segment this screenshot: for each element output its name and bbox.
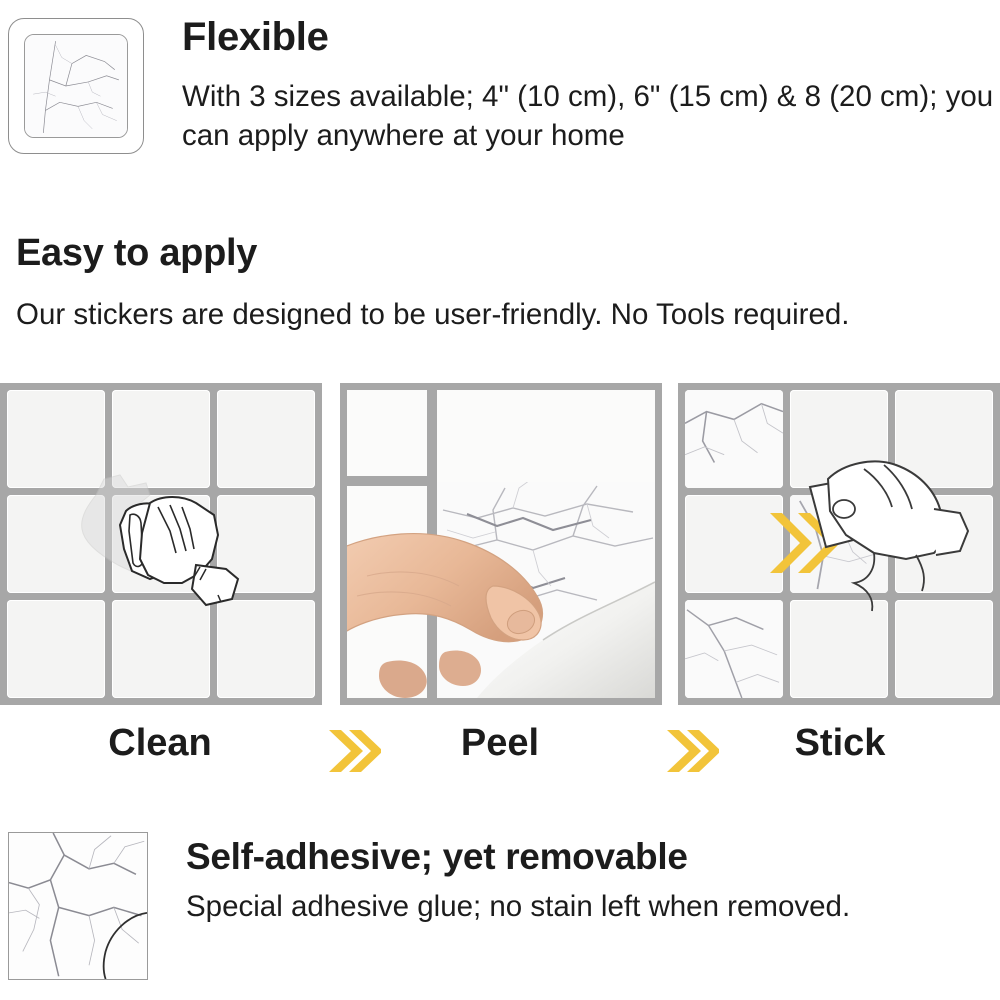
step-panel-peel (340, 383, 662, 705)
tile (112, 600, 210, 698)
hand-peeling-marble-sticker-icon (347, 390, 655, 698)
flexible-section: Flexible With 3 sizes available; 4" (10 … (0, 0, 1000, 200)
tile (7, 495, 105, 593)
tile (685, 495, 783, 593)
self-adhesive-description: Special adhesive glue; no stain left whe… (186, 888, 976, 927)
double-chevron-right-icon (325, 728, 381, 779)
tile (112, 495, 210, 593)
self-adhesive-title: Self-adhesive; yet removable (186, 838, 688, 877)
tile-grid (7, 390, 315, 698)
marble-tile-thumbnail-icon (8, 18, 144, 154)
tile (7, 600, 105, 698)
marble-tile-peeling-corner-icon (8, 832, 148, 980)
tile (790, 390, 888, 488)
step-panel-stick (678, 383, 1000, 705)
easy-to-apply-title: Easy to apply (16, 234, 257, 274)
tile-marble (685, 390, 783, 488)
step-panel-clean (0, 383, 322, 705)
tile-grid-wrap (678, 383, 1000, 705)
tile (7, 390, 105, 488)
tile (895, 600, 993, 698)
flexible-description: With 3 sizes available; 4" (10 cm), 6" (… (182, 78, 1000, 156)
flexible-title: Flexible (182, 16, 329, 58)
tile (217, 600, 315, 698)
tile-marble (790, 495, 888, 593)
tile (895, 495, 993, 593)
tile (895, 390, 993, 488)
tile-grid (685, 390, 993, 698)
easy-to-apply-description: Our stickers are designed to be user-fri… (16, 296, 916, 335)
step-label-peel: Peel (400, 722, 600, 765)
step-label-stick: Stick (740, 722, 940, 765)
tile (790, 600, 888, 698)
tile (217, 495, 315, 593)
double-chevron-right-icon (663, 728, 719, 779)
step-label-clean: Clean (60, 722, 260, 765)
tile-grid-wrap (0, 383, 322, 705)
tile (112, 390, 210, 488)
tile (217, 390, 315, 488)
peel-photo (347, 390, 655, 698)
tile-marble (685, 600, 783, 698)
marble-tile-inner (24, 34, 128, 138)
